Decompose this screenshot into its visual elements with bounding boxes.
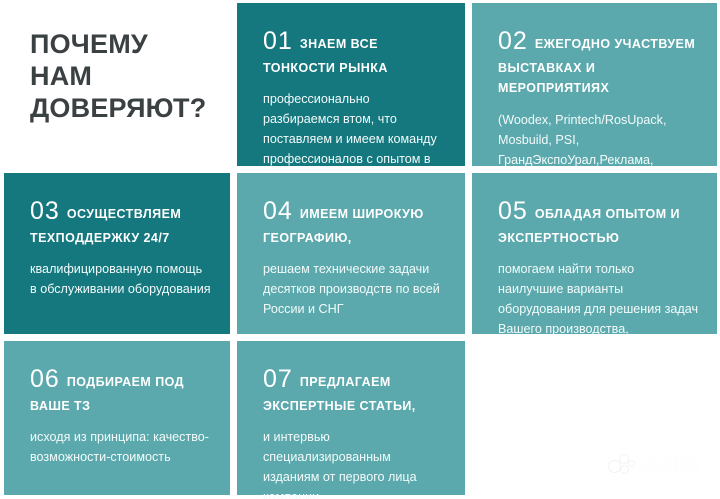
card-02-panel: 02ЕЖЕГОДНО УЧАСТВУЕМ ВЫСТАВКАХ И МЕРОПРИ… (472, 3, 717, 166)
card-04-number: 04 (263, 197, 293, 225)
card-01[interactable]: 01ЗНАЕМ ВСЕ ТОНКОСТИ РЫНКА профессиональ… (233, 0, 468, 170)
card-01-headline: 01ЗНАЕМ ВСЕ ТОНКОСТИ РЫНКА (263, 25, 447, 78)
card-05-body: помогаем найти только наилучшие варианты… (498, 260, 699, 338)
card-03-panel: 03ОСУЩЕСТВЛЯЕМ ТЕХПОДДЕРЖКУ 24/7 квалифи… (4, 173, 230, 334)
card-02[interactable]: 02ЕЖЕГОДНО УЧАСТВУЕМ ВЫСТАВКАХ И МЕРОПРИ… (468, 0, 720, 170)
card-04[interactable]: 04ИМЕЕМ ШИРОКУЮ ГЕОГРАФИЮ, решаем технич… (233, 170, 468, 338)
card-02-body: (Woodex, Printech/RosUpack, Mosbuild, PS… (498, 111, 699, 170)
card-05-number: 05 (498, 197, 528, 225)
card-07-body: и интервью специализированным изданиям о… (263, 428, 447, 499)
card-06-panel: 06ПОДБИРАЕМ ПОД ВАШЕ ТЗ исходя из принци… (4, 341, 230, 495)
benefits-grid: ПОЧЕМУ НАМ ДОВЕРЯЮТ? 01ЗНАЕМ ВСЕ ТОНКОСТ… (0, 0, 720, 499)
card-07-panel: 07ПРЕДЛАГАЕМ ЭКСПЕРТНЫЕ СТАТЬИ, и интерв… (237, 341, 465, 495)
title-panel: ПОЧЕМУ НАМ ДОВЕРЯЮТ? (4, 3, 230, 166)
card-03-body: квалифицированную помощь в обслуживании … (30, 260, 212, 300)
card-05-panel: 05ОБЛАДАЯ ОПЫТОМ И ЭКСПЕРТНОСТЬЮ помогае… (472, 173, 717, 334)
card-04-headline: 04ИМЕЕМ ШИРОКУЮ ГЕОГРАФИЮ, (263, 195, 447, 248)
card-01-body: профессионально разбираемся втом, что по… (263, 90, 447, 170)
card-03-number: 03 (30, 197, 60, 225)
watermark-cell: Avito (468, 338, 720, 499)
title-cell: ПОЧЕМУ НАМ ДОВЕРЯЮТ? (0, 0, 233, 170)
card-05[interactable]: 05ОБЛАДАЯ ОПЫТОМ И ЭКСПЕРТНОСТЬЮ помогае… (468, 170, 720, 338)
watermark-panel: Avito (472, 341, 717, 495)
card-02-headline: 02ЕЖЕГОДНО УЧАСТВУЕМ ВЫСТАВКАХ И МЕРОПРИ… (498, 25, 699, 99)
card-07-number: 07 (263, 365, 293, 393)
card-06[interactable]: 06ПОДБИРАЕМ ПОД ВАШЕ ТЗ исходя из принци… (0, 338, 233, 499)
avito-watermark: Avito (609, 452, 699, 477)
card-04-panel: 04ИМЕЕМ ШИРОКУЮ ГЕОГРАФИЮ, решаем технич… (237, 173, 465, 334)
card-07-headline: 07ПРЕДЛАГАЕМ ЭКСПЕРТНЫЕ СТАТЬИ, (263, 363, 447, 416)
card-02-number: 02 (498, 27, 528, 55)
card-06-number: 06 (30, 365, 60, 393)
card-06-headline: 06ПОДБИРАЕМ ПОД ВАШЕ ТЗ (30, 363, 212, 416)
card-04-body: решаем технические задачи десятков произ… (263, 260, 447, 320)
card-07[interactable]: 07ПРЕДЛАГАЕМ ЭКСПЕРТНЫЕ СТАТЬИ, и интерв… (233, 338, 468, 499)
card-05-headline: 05ОБЛАДАЯ ОПЫТОМ И ЭКСПЕРТНОСТЬЮ (498, 195, 699, 248)
avito-wordmark: Avito (640, 452, 699, 477)
page-title: ПОЧЕМУ НАМ ДОВЕРЯЮТ? (30, 25, 212, 125)
card-03[interactable]: 03ОСУЩЕСТВЛЯЕМ ТЕХПОДДЕРЖКУ 24/7 квалифи… (0, 170, 233, 338)
card-01-panel: 01ЗНАЕМ ВСЕ ТОНКОСТИ РЫНКА профессиональ… (237, 3, 465, 166)
avito-dots-icon (609, 455, 635, 475)
card-03-headline: 03ОСУЩЕСТВЛЯЕМ ТЕХПОДДЕРЖКУ 24/7 (30, 195, 212, 248)
card-01-number: 01 (263, 27, 293, 55)
card-06-body: исходя из принципа: качество-возможности… (30, 428, 212, 468)
